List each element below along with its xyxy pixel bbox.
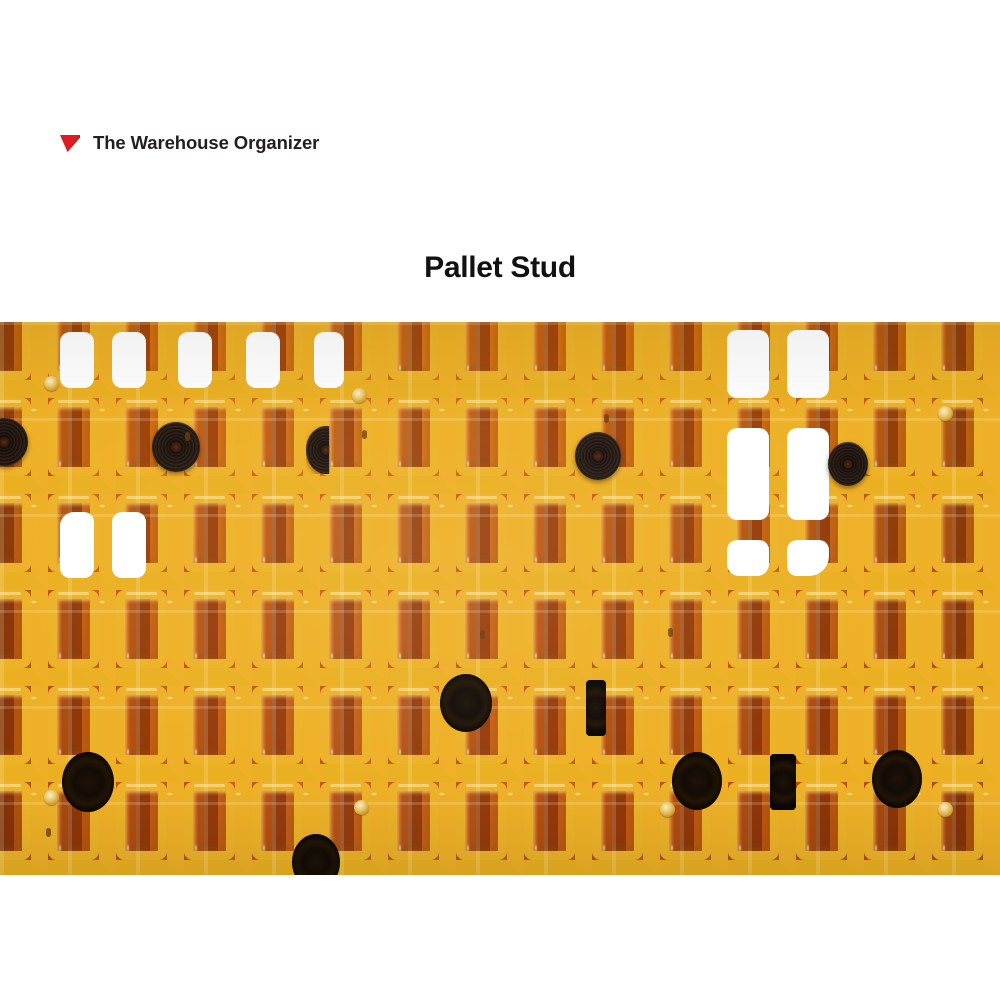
red-triangle-logo-icon xyxy=(58,131,82,155)
lattice-cell xyxy=(932,782,1000,875)
lattice-cell xyxy=(456,398,524,494)
lattice-cell xyxy=(388,782,456,875)
lattice-cell xyxy=(524,494,592,590)
lattice-cell xyxy=(252,686,320,782)
lattice-cell xyxy=(184,782,252,875)
lattice-cell xyxy=(524,782,592,875)
lattice-cell xyxy=(388,398,456,494)
lattice-cell xyxy=(252,494,320,590)
lattice-cell xyxy=(252,590,320,686)
lattice-cell xyxy=(932,494,1000,590)
rubber-stud xyxy=(152,422,200,472)
lattice-cell xyxy=(592,782,660,875)
moulding-boss xyxy=(938,802,953,817)
lattice-cell xyxy=(320,590,388,686)
moulding-boss xyxy=(660,802,675,817)
moulding-boss xyxy=(44,376,59,391)
lattice-cell xyxy=(524,322,592,398)
locator-pin xyxy=(362,430,367,439)
locator-pin xyxy=(185,432,190,441)
lattice-cell xyxy=(456,322,524,398)
lattice-cell xyxy=(184,686,252,782)
recessed-rubber-stud xyxy=(440,674,492,732)
rubber-stud xyxy=(828,442,868,486)
punch-through-opening xyxy=(314,332,344,388)
moulding-boss xyxy=(44,790,59,805)
lattice-cell xyxy=(184,494,252,590)
locator-pin xyxy=(480,630,485,639)
lattice-cell xyxy=(932,686,1000,782)
lattice-cell xyxy=(864,398,932,494)
lattice-cell xyxy=(660,590,728,686)
lattice-cell xyxy=(0,686,48,782)
locator-pin xyxy=(668,628,673,637)
punch-through-opening xyxy=(112,512,146,578)
lattice-cell xyxy=(320,686,388,782)
page-title: Pallet Stud xyxy=(0,250,1000,286)
lattice-cell xyxy=(320,494,388,590)
punch-through-opening xyxy=(727,428,769,520)
recessed-rubber-stud xyxy=(672,752,722,810)
moulding-boss xyxy=(354,800,369,815)
brand-name: The Warehouse Organizer xyxy=(93,134,319,153)
lattice-cell xyxy=(796,686,864,782)
punch-through-opening xyxy=(787,330,829,398)
lattice-cell xyxy=(116,590,184,686)
lattice-cell xyxy=(0,590,48,686)
lattice-cell xyxy=(524,686,592,782)
pallet-lattice-grid xyxy=(0,322,1000,875)
punch-through-opening xyxy=(787,428,829,520)
lattice-cell xyxy=(660,322,728,398)
lattice-cell xyxy=(592,494,660,590)
product-page: The Warehouse Organizer Pallet Stud xyxy=(0,0,1000,1000)
lattice-cell xyxy=(388,494,456,590)
lattice-cell xyxy=(592,322,660,398)
punch-through-opening xyxy=(60,512,94,578)
lattice-cell xyxy=(456,782,524,875)
lattice-cell xyxy=(0,322,48,398)
moulding-boss xyxy=(352,388,367,403)
punch-through-opening xyxy=(178,332,212,388)
brand-lockup[interactable]: The Warehouse Organizer xyxy=(58,130,319,156)
lattice-cell xyxy=(116,782,184,875)
locator-pin xyxy=(604,414,609,423)
locator-pin xyxy=(46,828,51,837)
rubber-stud xyxy=(575,432,621,480)
lattice-cell xyxy=(796,782,864,875)
lattice-cell xyxy=(864,590,932,686)
punch-through-opening xyxy=(112,332,146,388)
punch-through-opening xyxy=(727,540,769,576)
lattice-cell xyxy=(48,398,116,494)
lattice-cell xyxy=(864,494,932,590)
hero-product-photo xyxy=(0,322,1000,875)
lattice-cell xyxy=(456,494,524,590)
lattice-cell xyxy=(456,590,524,686)
recessed-rubber-stud xyxy=(770,754,796,810)
recessed-rubber-stud xyxy=(872,750,922,808)
lattice-cell xyxy=(116,686,184,782)
lattice-cell xyxy=(0,494,48,590)
punch-through-opening xyxy=(727,330,769,398)
lattice-cell xyxy=(660,494,728,590)
lattice-cell xyxy=(796,590,864,686)
lattice-cell xyxy=(48,590,116,686)
punch-through-opening xyxy=(60,332,94,388)
lattice-cell xyxy=(864,322,932,398)
lattice-cell xyxy=(932,322,1000,398)
punch-through-opening xyxy=(246,332,280,388)
lattice-cell xyxy=(932,590,1000,686)
lattice-cell xyxy=(388,322,456,398)
lattice-cell xyxy=(592,590,660,686)
lattice-cell xyxy=(660,398,728,494)
lattice-cell xyxy=(0,782,48,875)
recessed-rubber-stud xyxy=(62,752,114,812)
lattice-cell xyxy=(388,590,456,686)
recessed-rubber-stud xyxy=(586,680,606,736)
moulding-boss xyxy=(938,406,953,421)
lattice-cell xyxy=(524,590,592,686)
lattice-cell xyxy=(320,398,388,494)
lattice-cell xyxy=(184,590,252,686)
lattice-cell xyxy=(728,590,796,686)
